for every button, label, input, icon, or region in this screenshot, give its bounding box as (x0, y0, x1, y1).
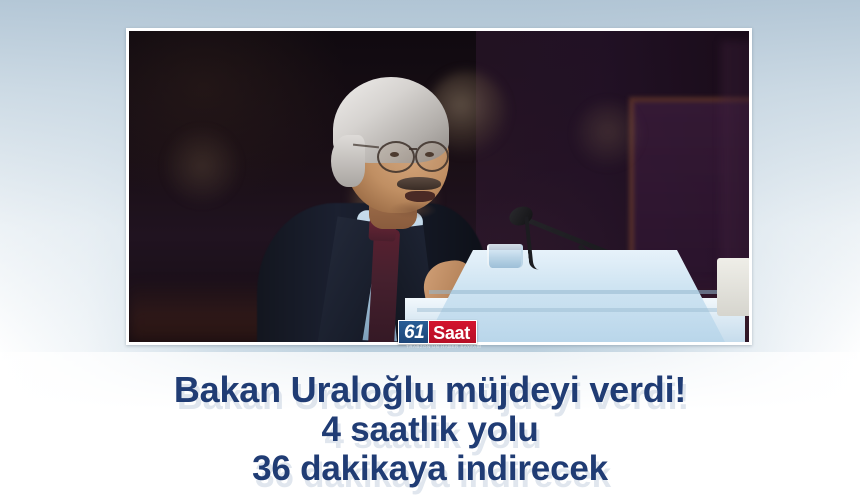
glasses-lens-left (377, 141, 415, 173)
news-card: 61 Saat TRABZON'UN HABER SAYFASI Bakan U… (0, 0, 860, 504)
water-glass (487, 244, 523, 268)
speaker-chin-shadow (389, 201, 437, 219)
site-logo[interactable]: 61 Saat (398, 320, 477, 344)
headline-line-1: Bakan Uraloğlu müjdeyi verdi! (0, 372, 860, 412)
glasses-lens-right (415, 141, 449, 172)
headline-line-3: 36 dakikaya indirecek (0, 451, 860, 486)
glasses-bridge (409, 148, 417, 150)
podium-trim-upper (429, 290, 721, 294)
headline-line-2: 4 saatlik yolu (0, 412, 860, 451)
podium-trim-lower (417, 308, 733, 312)
logo-word: Saat (429, 320, 477, 344)
headline: Bakan Uraloğlu müjdeyi verdi! 4 saatlik … (0, 372, 860, 486)
logo-number: 61 (398, 320, 429, 344)
news-photo (129, 31, 749, 342)
wall-ornament-3 (165, 127, 239, 205)
speaker-mustache (397, 177, 441, 190)
podium-side-panel (717, 258, 749, 316)
speaker-hair-side (331, 135, 365, 187)
wall-ornament-4 (575, 101, 641, 169)
news-photo-frame[interactable] (126, 28, 752, 345)
logo-tagline: TRABZON'UN HABER SAYFASI (400, 344, 488, 349)
